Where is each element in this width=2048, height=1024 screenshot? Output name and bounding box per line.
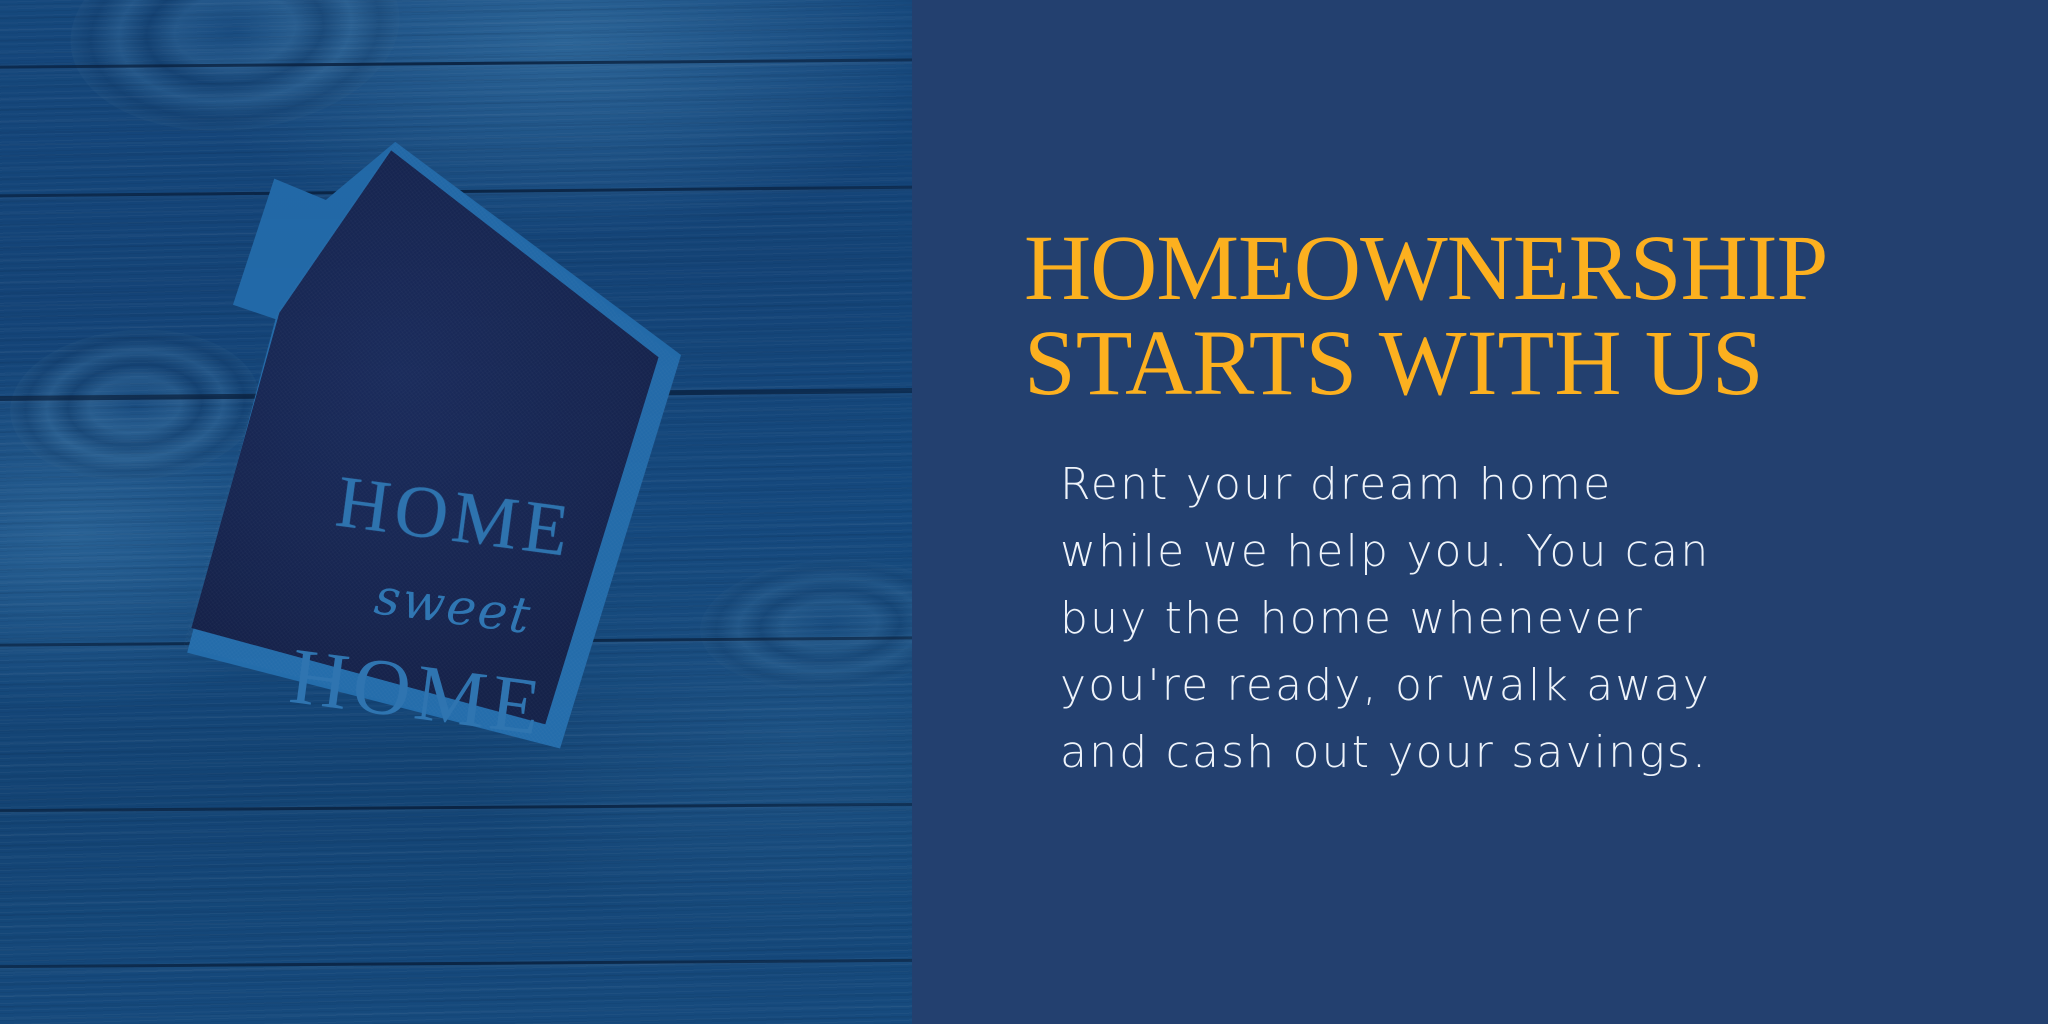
body-copy-line-4: you're ready, or walk away — [1060, 653, 1820, 720]
body-copy-line-2: while we help you. You can — [1060, 519, 1820, 586]
headline-line-2: STARTS WITH US — [1024, 317, 2004, 410]
photo-pane: HOME sweet HOME — [0, 0, 912, 1024]
promo-banner: HOME sweet HOME HOMEOWNERSHIP STARTS WIT… — [0, 0, 2048, 1024]
headline: HOMEOWNERSHIP STARTS WITH US — [1024, 222, 2004, 410]
body-copy-line-5: and cash out your savings. — [1060, 720, 1820, 787]
photo-duotone-overlay — [0, 0, 912, 1024]
copy-pane: HOMEOWNERSHIP STARTS WITH US Rent your d… — [912, 0, 2048, 1024]
body-copy-line-3: buy the home whenever — [1060, 586, 1820, 653]
body-copy-line-1: Rent your dream home — [1060, 452, 1820, 519]
body-copy: Rent your dream home while we help you. … — [1060, 452, 1820, 786]
headline-line-1: HOMEOWNERSHIP — [1024, 222, 2004, 315]
